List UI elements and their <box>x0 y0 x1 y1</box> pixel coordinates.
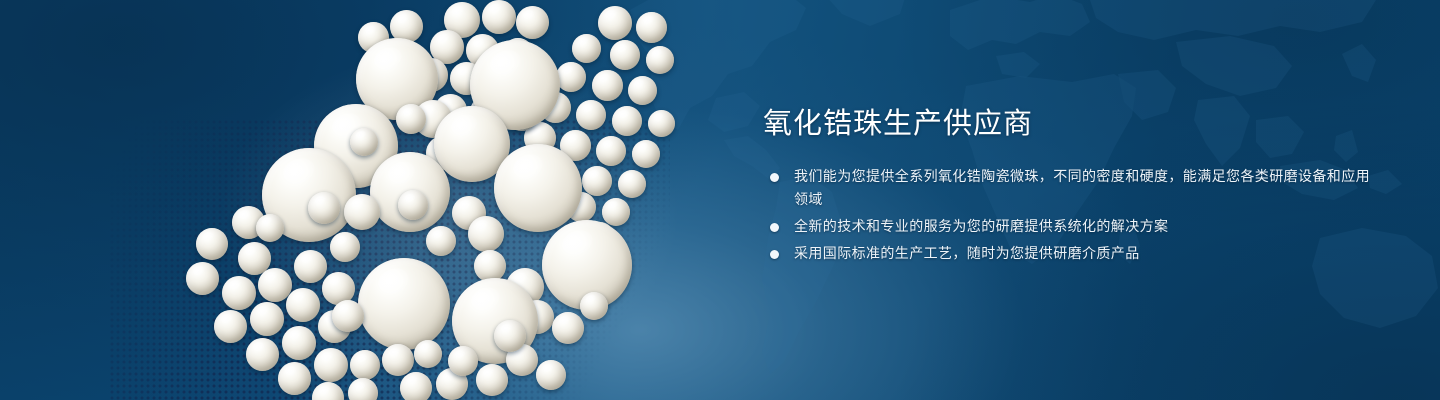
bullet-item-1: 我们能为您提供全系列氧化锆陶瓷微珠，不同的密度和硬度，能满足您各类研磨设备和应用… <box>763 165 1383 211</box>
banner-copy-block: 氧化锆珠生产供应商 我们能为您提供全系列氧化锆陶瓷微珠，不同的密度和硬度，能满足… <box>763 104 1383 265</box>
bullet-item-1-text: 我们能为您提供全系列氧化锆陶瓷微珠，不同的密度和硬度，能满足您各类研磨设备和应用… <box>794 165 1383 211</box>
banner-bullet-list: 我们能为您提供全系列氧化锆陶瓷微珠，不同的密度和硬度，能满足您各类研磨设备和应用… <box>763 165 1383 265</box>
banner-headline: 氧化锆珠生产供应商 <box>763 104 1383 144</box>
bullet-dot-icon <box>770 173 779 182</box>
bullet-item-3: 采用国际标准的生产工艺，随时为您提供研磨介质产品 <box>763 242 1383 265</box>
bullet-dot-icon <box>770 223 779 232</box>
bullet-item-2-text: 全新的技术和专业的服务为您的研磨提供系统化的解决方案 <box>794 215 1383 238</box>
hero-banner: 氧化锆珠生产供应商 我们能为您提供全系列氧化锆陶瓷微珠，不同的密度和硬度，能满足… <box>0 0 1440 400</box>
bullet-item-2: 全新的技术和专业的服务为您的研磨提供系统化的解决方案 <box>763 215 1383 238</box>
bullet-item-3-text: 采用国际标准的生产工艺，随时为您提供研磨介质产品 <box>794 242 1383 265</box>
bullet-dot-icon <box>770 250 779 259</box>
